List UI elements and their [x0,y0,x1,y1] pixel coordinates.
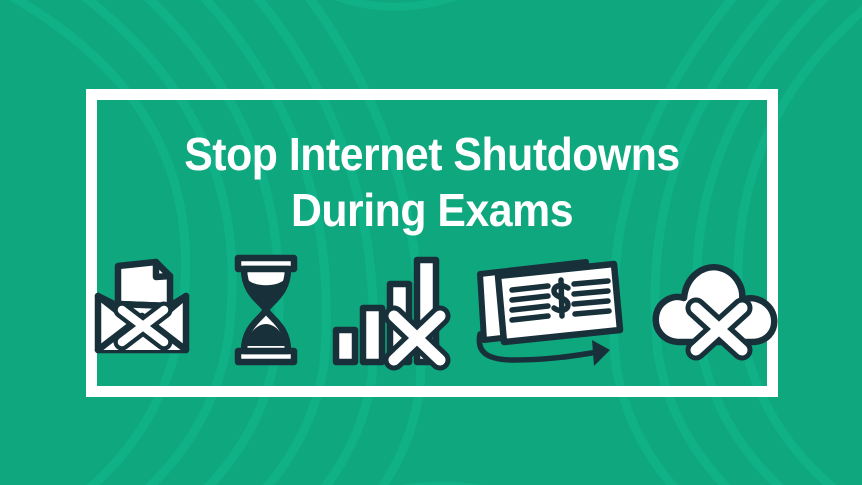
newspaper-money-icon [474,250,624,380]
headline-line-1: Stop Internet Shutdowns [120,126,743,182]
poster-canvas: Stop Internet Shutdowns During Exams [0,0,862,485]
page-title: Stop Internet Shutdowns During Exams [120,126,743,238]
signal-bars-x-icon [330,250,448,370]
icon-row [97,250,767,380]
hourglass-icon [228,250,304,370]
poster-frame: Stop Internet Shutdowns During Exams [86,89,778,397]
envelope-x-icon [82,250,202,370]
headline-line-2: During Exams [120,182,743,238]
cloud-x-icon [650,250,782,368]
